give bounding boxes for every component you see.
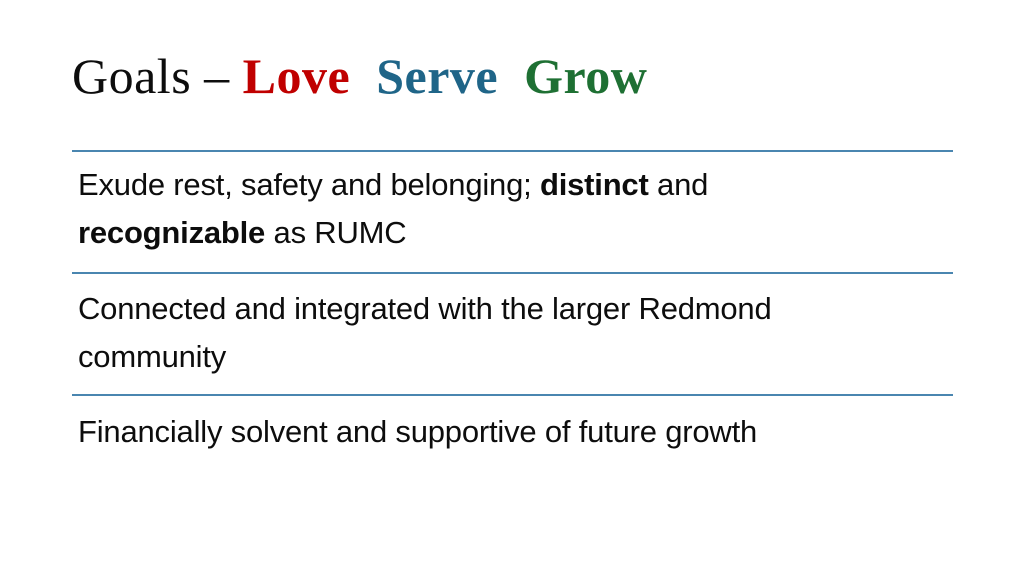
emphasis-text: distinct — [540, 167, 649, 202]
body-text: as RUMC — [265, 215, 406, 250]
goal-text-2: Connected and integrated with the larger… — [78, 285, 878, 381]
divider-rule-3 — [72, 394, 953, 396]
body-text: and — [649, 167, 709, 202]
goal-text-3: Financially solvent and supportive of fu… — [78, 408, 878, 456]
title-space-4 — [498, 48, 524, 104]
title-word-serve: Serve — [376, 48, 498, 104]
body-text: Financially solvent and supportive of fu… — [78, 414, 757, 449]
body-text: Connected and integrated with the larger… — [78, 291, 772, 374]
slide-title: Goals – Love Serve Grow — [72, 45, 962, 107]
divider-rule-2 — [72, 272, 953, 274]
presentation-slide: Goals – Love Serve Grow Exude rest, safe… — [0, 0, 1024, 576]
emphasis-text: recognizable — [78, 215, 265, 250]
title-word-grow: Grow — [524, 48, 647, 104]
divider-rule-1 — [72, 150, 953, 152]
title-word-love: Love — [243, 48, 351, 104]
goal-text-1: Exude rest, safety and belonging; distin… — [78, 161, 878, 257]
title-space-2 — [230, 48, 243, 104]
body-text: Exude rest, safety and belonging; — [78, 167, 540, 202]
title-dash: – — [204, 48, 230, 104]
title-space-1 — [191, 48, 204, 104]
title-space-3 — [350, 48, 376, 104]
title-prefix: Goals — [72, 48, 191, 104]
